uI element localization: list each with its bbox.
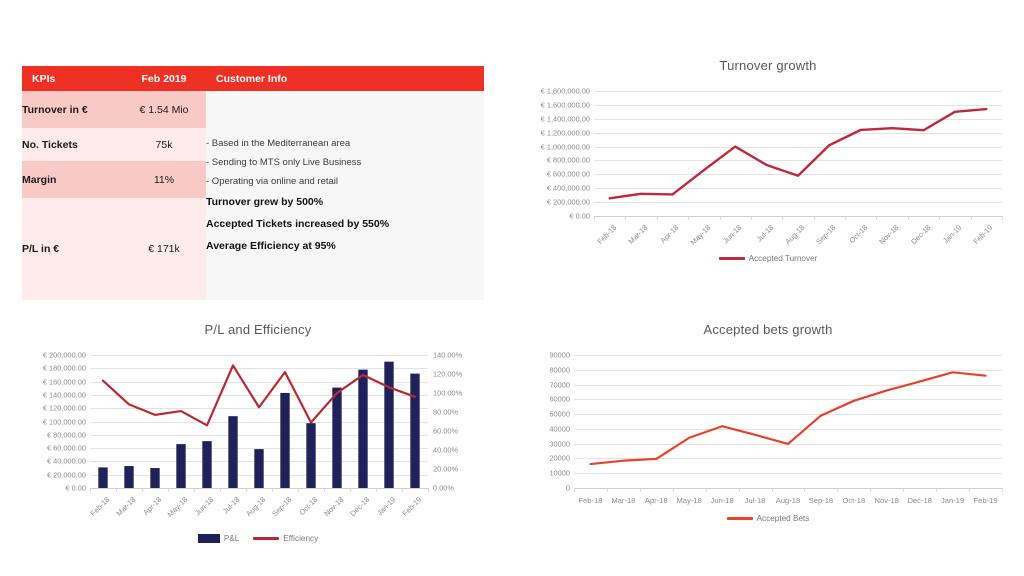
- legend-item: Accepted Turnover: [719, 254, 818, 263]
- x-axis-tick-label: Mar-18: [618, 223, 650, 255]
- y-axis-tick-label: € 80,000.00: [47, 430, 90, 439]
- bar: [410, 374, 419, 488]
- chart-title: Accepted bets growth: [512, 322, 1024, 337]
- x-axis-tick: [876, 216, 877, 220]
- x-axis-tick: [594, 216, 595, 220]
- x-axis-tick: [804, 488, 805, 492]
- chart-legend: Accepted Turnover: [512, 254, 1024, 263]
- chart-legend: P&L Efficiency: [8, 534, 508, 543]
- x-axis-tick: [739, 488, 740, 492]
- y-axis-tick-label: € 0.00: [65, 484, 90, 493]
- x-axis-tick: [870, 488, 871, 492]
- x-axis-tick: [402, 488, 403, 492]
- info-highlight: Average Efficiency at 95%: [206, 235, 484, 257]
- x-axis-tick-label: Feb-19: [963, 223, 995, 255]
- y-axis-tick-label: € 400,000.00: [547, 184, 594, 193]
- x-axis-tick: [194, 488, 195, 492]
- table-row: Turnover in € € 1.54 Mio - Based in the …: [22, 91, 484, 128]
- x-axis-tick: [376, 488, 377, 492]
- chart-pl-efficiency: P/L and Efficiency € 0.00€ 20,000.00€ 40…: [8, 322, 508, 554]
- y-axis-tick-label: 90000: [549, 351, 574, 360]
- bar: [306, 423, 315, 488]
- x-axis-tick-label: Apr-18: [649, 223, 681, 255]
- bar: [98, 467, 107, 488]
- y-axis-right-tick-label: 120.00%: [428, 370, 462, 379]
- x-axis-tick-label: Oct-18: [837, 223, 869, 255]
- data-line: [610, 109, 987, 198]
- gridline: [90, 488, 428, 489]
- x-axis-tick: [90, 488, 91, 492]
- bar: [124, 466, 133, 488]
- chart-title: P/L and Efficiency: [8, 322, 508, 337]
- x-axis-tick: [625, 216, 626, 220]
- table-header-row: KPIs Feb 2019 Customer Info: [22, 66, 484, 91]
- gridline: [574, 488, 1002, 489]
- info-bullet: - Based in the Mediterranean area: [206, 134, 484, 153]
- bar: [280, 393, 289, 488]
- x-axis-tick-label: Jul-18: [745, 496, 766, 505]
- x-axis-tick: [782, 216, 783, 220]
- y-axis-tick-label: € 800,000.00: [547, 156, 594, 165]
- chart-accepted-bets: Accepted bets growth 0100002000030000400…: [512, 322, 1024, 538]
- x-axis-tick-label: Aug-18: [775, 223, 807, 255]
- x-axis-tick: [936, 488, 937, 492]
- x-axis-tick: [607, 488, 608, 492]
- info-highlight: Turnover grew by 500%: [206, 191, 484, 213]
- x-axis-tick: [939, 216, 940, 220]
- y-axis-tick-label: 20000: [549, 454, 574, 463]
- x-axis-tick: [720, 216, 721, 220]
- y-axis-tick-label: € 0.00: [569, 212, 594, 221]
- legend-label: Efficiency: [283, 534, 318, 543]
- kpi-value-turnover: € 1.54 Mio: [122, 91, 206, 128]
- legend-swatch-icon: [198, 534, 220, 543]
- y-axis-tick-label: € 200,000.00: [43, 351, 90, 360]
- x-axis-tick-label: Mar-18: [611, 496, 635, 505]
- y-axis-tick-label: € 20,000.00: [47, 470, 90, 479]
- y-axis-tick-label: € 160,000.00: [43, 377, 90, 386]
- kpi-value-pl: € 171k: [122, 198, 206, 300]
- x-axis-tick-label: Sep-18: [806, 223, 838, 255]
- y-axis-right-tick-label: 140.00%: [428, 351, 462, 360]
- x-axis-tick: [640, 488, 641, 492]
- x-axis-tick: [428, 488, 429, 492]
- x-axis-tick: [706, 488, 707, 492]
- x-axis-tick: [971, 216, 972, 220]
- x-axis-tick: [574, 488, 575, 492]
- y-axis-tick-label: € 1,200,000.00: [541, 128, 594, 137]
- y-axis-tick-label: 60000: [549, 395, 574, 404]
- chart-title: Turnover growth: [512, 58, 1024, 73]
- y-axis-tick-label: € 140,000.00: [43, 390, 90, 399]
- y-axis-tick-label: € 200,000.00: [547, 198, 594, 207]
- x-axis-tick-label: Dec-18: [907, 496, 931, 505]
- chart-legend: Accepted Bets: [512, 514, 1024, 523]
- x-axis-tick-label: May-18: [680, 223, 712, 255]
- y-axis-tick-label: 10000: [549, 469, 574, 478]
- y-axis-tick-label: 0: [566, 484, 574, 493]
- bar: [176, 444, 185, 488]
- legend-line-icon: [727, 517, 753, 520]
- x-axis-tick-label: Nov-18: [869, 223, 901, 255]
- x-axis-tick: [116, 488, 117, 492]
- y-axis-right-tick-label: 100.00%: [428, 389, 462, 398]
- kpi-value-margin: 11%: [122, 161, 206, 198]
- x-axis-tick-label: Jun-18: [712, 223, 744, 255]
- bar: [202, 441, 211, 488]
- kpi-label-margin: Margin: [22, 161, 122, 198]
- x-axis-tick-label: May-18: [677, 496, 702, 505]
- y-axis-right-tick-label: 0.00%: [428, 484, 454, 493]
- x-axis-tick: [657, 216, 658, 220]
- y-axis-tick-label: € 120,000.00: [43, 404, 90, 413]
- y-axis-right-tick-label: 20.00%: [428, 465, 458, 474]
- x-axis-tick-label: Oct-18: [842, 496, 865, 505]
- legend-line-icon: [253, 537, 279, 540]
- legend-line-icon: [719, 257, 745, 260]
- header-customer-info: Customer Info: [206, 66, 484, 91]
- bar: [150, 468, 159, 488]
- legend-label: Accepted Bets: [757, 514, 810, 523]
- plot-area: € 0.00€ 20,000.00€ 40,000.00€ 60,000.00€…: [90, 355, 428, 488]
- y-axis-tick-label: € 1,400,000.00: [541, 114, 594, 123]
- x-axis-tick-label: Apr-18: [645, 496, 668, 505]
- y-axis-tick-label: 80000: [549, 365, 574, 374]
- legend-label: P&L: [224, 534, 239, 543]
- legend-item: P&L: [198, 534, 239, 543]
- kpi-label-pl: P/L in €: [22, 198, 122, 300]
- bar: [332, 388, 341, 488]
- bar: [358, 370, 367, 488]
- x-axis-tick: [845, 216, 846, 220]
- gridline: [594, 216, 1002, 217]
- x-axis-tick: [688, 216, 689, 220]
- x-axis-tick: [220, 488, 221, 492]
- x-axis-tick: [969, 488, 970, 492]
- legend-label: Accepted Turnover: [749, 254, 818, 263]
- x-axis-tick-label: Feb-19: [974, 496, 998, 505]
- y-axis-right-tick-label: 60.00%: [428, 427, 458, 436]
- info-highlight: Accepted Tickets increased by 550%: [206, 213, 484, 235]
- dashboard-page: KPIs Feb 2019 Customer Info Turnover in …: [0, 0, 1024, 576]
- x-axis-tick-label: Sep-18: [809, 496, 834, 505]
- x-axis-tick: [814, 216, 815, 220]
- x-axis-tick-label: Feb-18: [578, 496, 602, 505]
- y-axis-tick-label: € 1,000,000.00: [541, 142, 594, 151]
- y-axis-tick-label: 70000: [549, 380, 574, 389]
- x-axis-tick: [350, 488, 351, 492]
- data-line: [590, 372, 985, 464]
- x-axis-tick: [903, 488, 904, 492]
- y-axis-right-tick-label: 40.00%: [428, 446, 458, 455]
- x-axis-tick: [324, 488, 325, 492]
- x-axis-tick: [1002, 488, 1003, 492]
- plot-area: 0100002000030000400005000060000700008000…: [574, 355, 1002, 488]
- x-axis-tick-label: Jan-19: [941, 496, 964, 505]
- y-axis-tick-label: 30000: [549, 439, 574, 448]
- x-axis-tick-label: Jul-18: [743, 223, 775, 255]
- y-axis-tick-label: € 60,000.00: [47, 444, 90, 453]
- y-axis-tick-label: € 1,800,000.00: [541, 87, 594, 96]
- x-axis-tick-label: Feb-18: [586, 223, 618, 255]
- kpi-label-tickets: No. Tickets: [22, 128, 122, 161]
- x-axis-tick-label: Dec-18: [900, 223, 932, 255]
- y-axis-tick-label: € 100,000.00: [43, 417, 90, 426]
- legend-item: Efficiency: [253, 534, 318, 543]
- bar: [254, 449, 263, 488]
- x-axis-tick: [837, 488, 838, 492]
- info-bullet: - Operating via online and retail: [206, 172, 484, 191]
- kpi-summary-table: KPIs Feb 2019 Customer Info Turnover in …: [22, 66, 484, 300]
- bar: [384, 362, 393, 488]
- chart-turnover-growth: Turnover growth € 0.00€ 200,000.00€ 400,…: [512, 58, 1024, 274]
- x-axis-tick: [1002, 216, 1003, 220]
- y-axis-tick-label: € 40,000.00: [47, 457, 90, 466]
- y-axis-tick-label: € 180,000.00: [43, 364, 90, 373]
- x-axis-tick: [142, 488, 143, 492]
- x-axis-tick: [908, 216, 909, 220]
- legend-item: Accepted Bets: [727, 514, 810, 523]
- y-axis-tick-label: € 600,000.00: [547, 170, 594, 179]
- x-axis-tick: [272, 488, 273, 492]
- bar: [228, 416, 237, 488]
- plot-area: € 0.00€ 200,000.00€ 400,000.00€ 600,000.…: [594, 91, 1002, 216]
- x-axis-tick: [751, 216, 752, 220]
- x-axis-tick-label: Nov-18: [875, 496, 899, 505]
- header-period: Feb 2019: [122, 66, 206, 91]
- x-axis-tick-label: Jun-18: [711, 496, 734, 505]
- y-axis-tick-label: € 1,600,000.00: [541, 100, 594, 109]
- y-axis-tick-label: 40000: [549, 424, 574, 433]
- x-axis-tick: [168, 488, 169, 492]
- x-axis-tick: [298, 488, 299, 492]
- x-axis-tick: [246, 488, 247, 492]
- kpi-value-tickets: 75k: [122, 128, 206, 161]
- x-axis-tick-label: Jan-19: [931, 223, 963, 255]
- y-axis-right-tick-label: 80.00%: [428, 408, 458, 417]
- x-axis-tick-label: Aug-18: [776, 496, 801, 505]
- kpi-label-turnover: Turnover in €: [22, 91, 122, 128]
- info-bullet: - Sending to MTS only Live Business: [206, 153, 484, 172]
- header-kpis: KPIs: [22, 66, 122, 91]
- x-axis-tick: [772, 488, 773, 492]
- data-line: [103, 365, 415, 425]
- y-axis-tick-label: 50000: [549, 410, 574, 419]
- x-axis-tick: [673, 488, 674, 492]
- customer-info-cell: - Based in the Mediterranean area - Send…: [206, 91, 484, 300]
